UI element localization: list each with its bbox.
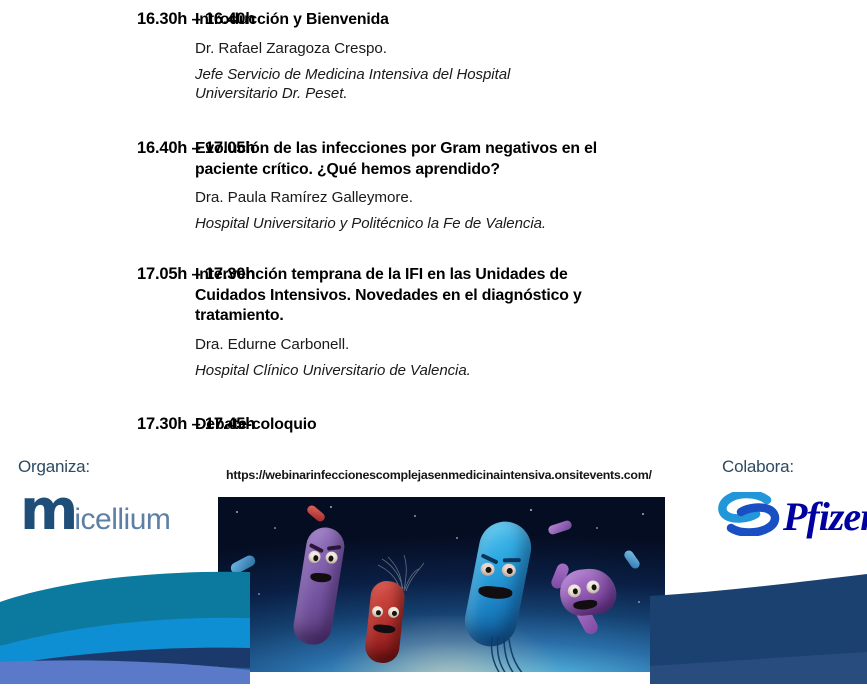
session-title: Evolución de las infecciones por Gram ne… <box>195 139 610 180</box>
agenda-session: 17.05h – 17.30h Intervención temprana de… <box>0 265 867 380</box>
organizer-label: Organiza: <box>18 457 90 477</box>
session-body: Evolución de las infecciones por Gram ne… <box>195 139 867 234</box>
session-time: 16.30h – 16.40h <box>0 10 195 104</box>
session-affiliation: Hospital Clínico Universitario de Valenc… <box>195 361 595 381</box>
session-body: Introducción y Bienvenida Dr. Rafael Zar… <box>195 10 867 104</box>
session-affiliation: Jefe Servicio de Medicina Intensiva del … <box>195 65 595 104</box>
agenda-session: 17.30h – 17.45h Debate-coloquio <box>0 415 867 436</box>
session-time: 17.05h – 17.30h <box>0 265 195 380</box>
micellium-logo-text: icellium <box>74 505 170 535</box>
bacterium-flagella <box>480 637 550 672</box>
collaborator-label: Colabora: <box>722 457 794 477</box>
session-title: Intervención temprana de la IFI en las U… <box>195 265 610 327</box>
flyer-page: 16.30h – 16.40h Introducción y Bienvenid… <box>0 0 867 684</box>
agenda-session: 16.30h – 16.40h Introducción y Bienvenid… <box>0 10 867 104</box>
pfizer-helix-icon <box>718 492 780 541</box>
session-speaker: Dr. Rafael Zaragoza Crespo. <box>195 40 867 57</box>
pfizer-wordmark: Pfizer <box>783 497 867 537</box>
registration-url-link[interactable]: https://webinarinfeccionescomplejasenmed… <box>226 468 652 482</box>
session-title: Introducción y Bienvenida <box>195 10 610 31</box>
pfizer-logo: Pfizer <box>718 492 867 541</box>
session-body: Intervención temprana de la IFI en las U… <box>195 265 867 380</box>
session-affiliation: Hospital Universitario y Politécnico la … <box>195 214 595 234</box>
micellium-logo-m: m <box>20 489 76 533</box>
agenda-session: 16.40h – 17.05h Evolución de las infecci… <box>0 139 867 234</box>
session-time: 16.40h – 17.05h <box>0 139 195 234</box>
session-speaker: Dra. Paula Ramírez Galleymore. <box>195 189 867 206</box>
session-speaker: Dra. Edurne Carbonell. <box>195 336 867 353</box>
session-body: Debate-coloquio <box>195 415 867 436</box>
session-time: 17.30h – 17.45h <box>0 415 195 436</box>
micellium-logo: m icellium <box>20 489 170 535</box>
session-title: Debate-coloquio <box>195 415 610 436</box>
bacteria-illustration <box>218 497 665 672</box>
